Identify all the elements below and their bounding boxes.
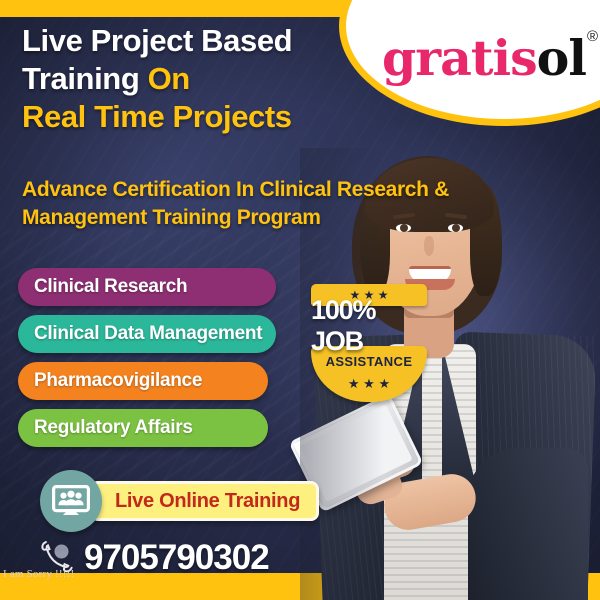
subheadline-line-2: Management Training Program [22, 204, 482, 232]
trademark-icon: ® [587, 28, 598, 45]
course-pill-clinical-research[interactable]: Clinical Research [18, 268, 276, 306]
headline-line-2: Training On [22, 60, 362, 98]
badge-title-area: 100% JOB [311, 306, 427, 346]
subheadline-line-1: Advance Certification In Clinical Resear… [22, 176, 482, 204]
phone-number: 9705790302 [84, 538, 269, 578]
course-pill-regulatory-affairs[interactable]: Regulatory Affairs [18, 409, 268, 447]
course-pill-pharmacovigilance[interactable]: Pharmacovigilance [18, 362, 268, 400]
logo-secondary-text: ol [537, 34, 586, 83]
headline-line-2-yellow: On [148, 61, 190, 96]
job-assistance-badge: ★ ★ ★ 100% JOB ASSISTANCE ★ ★ ★ [311, 284, 427, 402]
badge-title: 100% JOB [311, 295, 427, 357]
promo-banner: gratis ol ® Live Project Based Training … [0, 0, 600, 600]
headline-line-1: Live Project Based [22, 22, 362, 60]
course-label: Regulatory Affairs [34, 417, 193, 439]
badge-bottom-stars: ★ ★ ★ [311, 377, 427, 390]
badge-shield: ASSISTANCE ★ ★ ★ [311, 346, 427, 402]
brand-logo: gratis ol ® [382, 22, 597, 94]
course-pill-clinical-data-management[interactable]: Clinical Data Management [18, 315, 276, 353]
headline-line-2-white: Training [22, 61, 148, 96]
course-label: Pharmacovigilance [34, 370, 202, 392]
course-label: Clinical Research [34, 276, 187, 298]
headline-line-3: Real Time Projects [22, 98, 362, 136]
star-icon-group-bottom: ★ ★ ★ [348, 377, 390, 390]
logo-primary-text: gratis [382, 34, 537, 83]
live-online-training-label: Live Online Training [115, 490, 300, 513]
top-accent-bar [0, 0, 363, 17]
subheadline-block: Advance Certification In Clinical Resear… [22, 176, 482, 231]
live-online-training-pill[interactable]: Live Online Training [90, 481, 319, 521]
live-online-training-row[interactable]: Live Online Training [40, 470, 319, 532]
caption-text: I am Sorry !!!!! [3, 568, 74, 580]
course-list: Clinical Research Clinical Data Manageme… [18, 268, 276, 456]
video-conference-icon [40, 470, 102, 532]
badge-subtitle: ASSISTANCE [326, 354, 413, 369]
headline-block: Live Project Based Training On Real Time… [22, 22, 362, 136]
course-label: Clinical Data Management [34, 323, 262, 345]
